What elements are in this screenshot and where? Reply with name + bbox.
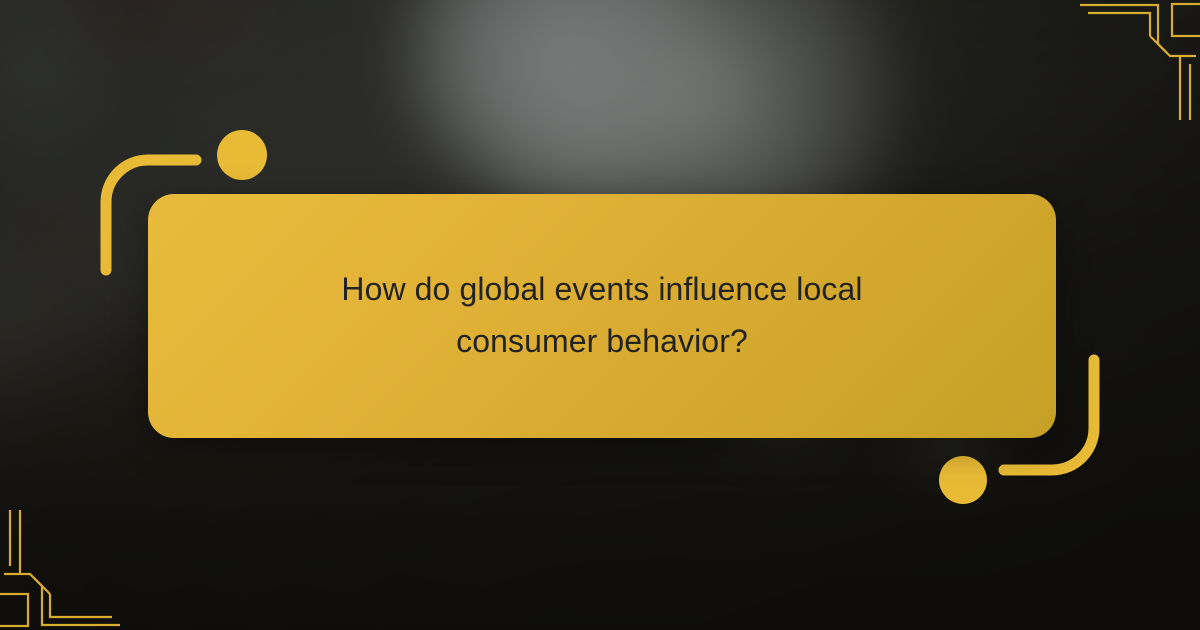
question-card: How do global events influence local con… <box>148 194 1056 438</box>
graphic-canvas: How do global events influence local con… <box>0 0 1200 630</box>
circle-dot-icon <box>217 130 267 180</box>
question-text: How do global events influence local con… <box>282 264 922 368</box>
circle-dot-icon <box>939 456 987 504</box>
